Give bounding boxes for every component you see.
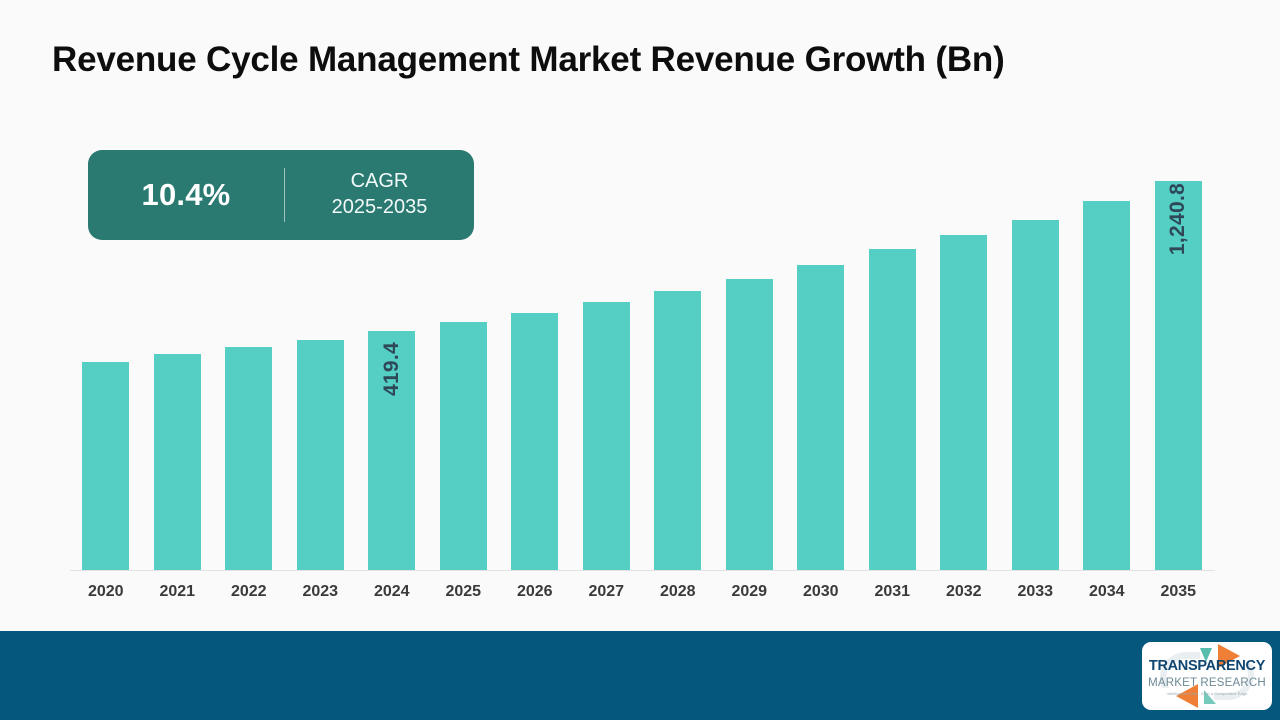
x-tick-2021: 2021 (142, 583, 214, 601)
bar-2020[interactable] (82, 362, 129, 570)
x-tick-2020: 2020 (70, 583, 142, 601)
bar-2035[interactable]: 1,240.8 (1155, 181, 1202, 570)
bar-2031[interactable] (869, 249, 916, 570)
logo-tagline: Intelligence Sells, Gain a Competitive E… (1142, 692, 1272, 696)
bar-slot (142, 120, 214, 570)
logo-wordmark: TRANSPARENCY MARKET RESEARCH Intelligenc… (1142, 659, 1272, 696)
bar-value-label-2035: 1,240.8 (1166, 183, 1190, 255)
bar-slot (571, 120, 643, 570)
bar-2021[interactable] (154, 354, 201, 570)
bar-slot (285, 120, 357, 570)
bar-slot (1000, 120, 1072, 570)
chart-page: Revenue Cycle Management Market Revenue … (0, 0, 1280, 720)
bar-2025[interactable] (440, 322, 487, 570)
x-tick-2029: 2029 (714, 583, 786, 601)
bar-slot (785, 120, 857, 570)
bar-slot (642, 120, 714, 570)
bar-slot: 1,240.8 (1143, 120, 1215, 570)
bar-2022[interactable] (225, 347, 272, 570)
x-tick-2028: 2028 (642, 583, 714, 601)
x-tick-2022: 2022 (213, 583, 285, 601)
transparency-market-research-logo: TRANSPARENCY MARKET RESEARCH Intelligenc… (1142, 642, 1272, 710)
bar-2023[interactable] (297, 340, 344, 570)
bar-2030[interactable] (797, 265, 844, 570)
bar-value-label-2024: 419.4 (380, 342, 404, 396)
bar-2026[interactable] (511, 313, 558, 570)
bar-slot (428, 120, 500, 570)
bar-slot (213, 120, 285, 570)
logo-line-1: TRANSPARENCY (1142, 659, 1272, 674)
bar-2034[interactable] (1083, 201, 1130, 570)
bar-2028[interactable] (654, 291, 701, 570)
bar-2033[interactable] (1012, 220, 1059, 570)
page-title: Revenue Cycle Management Market Revenue … (52, 40, 1242, 80)
x-tick-2025: 2025 (428, 583, 500, 601)
bar-slot (714, 120, 786, 570)
x-axis-tick-labels: 2020202120222023202420252026202720282029… (70, 583, 1215, 609)
bar-slot: 419.4 (356, 120, 428, 570)
x-tick-2033: 2033 (1000, 583, 1072, 601)
logo-line-2: MARKET RESEARCH (1142, 678, 1272, 690)
x-tick-2024: 2024 (356, 583, 428, 601)
bar-slot (70, 120, 142, 570)
bar-2032[interactable] (940, 235, 987, 570)
footer-bar: TRANSPARENCY MARKET RESEARCH Intelligenc… (0, 631, 1280, 720)
bar-slot (857, 120, 929, 570)
bar-slot (928, 120, 1000, 570)
bar-chart-plot-area: 419.41,240.8 (70, 120, 1215, 571)
x-tick-2031: 2031 (857, 583, 929, 601)
bar-2027[interactable] (583, 302, 630, 570)
x-tick-2030: 2030 (785, 583, 857, 601)
x-tick-2034: 2034 (1071, 583, 1143, 601)
bar-slot (1071, 120, 1143, 570)
x-tick-2027: 2027 (571, 583, 643, 601)
x-tick-2026: 2026 (499, 583, 571, 601)
bar-2024[interactable]: 419.4 (368, 331, 415, 570)
x-tick-2035: 2035 (1143, 583, 1215, 601)
bar-slot (499, 120, 571, 570)
x-tick-2023: 2023 (285, 583, 357, 601)
x-axis-line (70, 570, 1215, 571)
x-tick-2032: 2032 (928, 583, 1000, 601)
bar-2029[interactable] (726, 279, 773, 570)
